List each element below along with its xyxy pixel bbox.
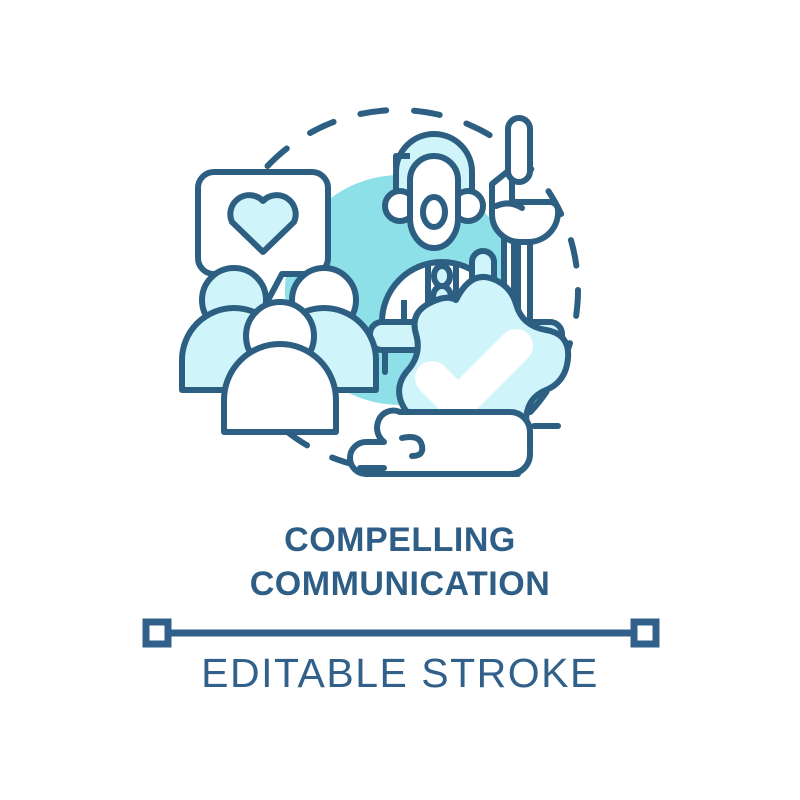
editable-stroke-divider <box>0 612 800 654</box>
audience-person-center-body <box>224 344 336 432</box>
concept-icon-page: COMPELLING COMMUNICATION EDITABLE STROKE <box>0 0 800 800</box>
illustration-area <box>160 60 640 530</box>
audience-group <box>182 268 376 432</box>
title-line-2: COMMUNICATION <box>0 562 800 606</box>
open-hand <box>350 411 530 474</box>
page-title: COMPELLING COMMUNICATION <box>0 518 800 606</box>
divider <box>0 612 800 654</box>
divider-endpoint-left <box>146 622 168 644</box>
compelling-communication-illustration <box>160 60 640 530</box>
title-line-1: COMPELLING <box>0 518 800 562</box>
speaker-index-finger <box>508 118 530 182</box>
divider-endpoint-right <box>634 622 656 644</box>
editable-stroke-label: EDITABLE STROKE <box>0 650 800 697</box>
speaker-open-mouth <box>423 197 445 227</box>
